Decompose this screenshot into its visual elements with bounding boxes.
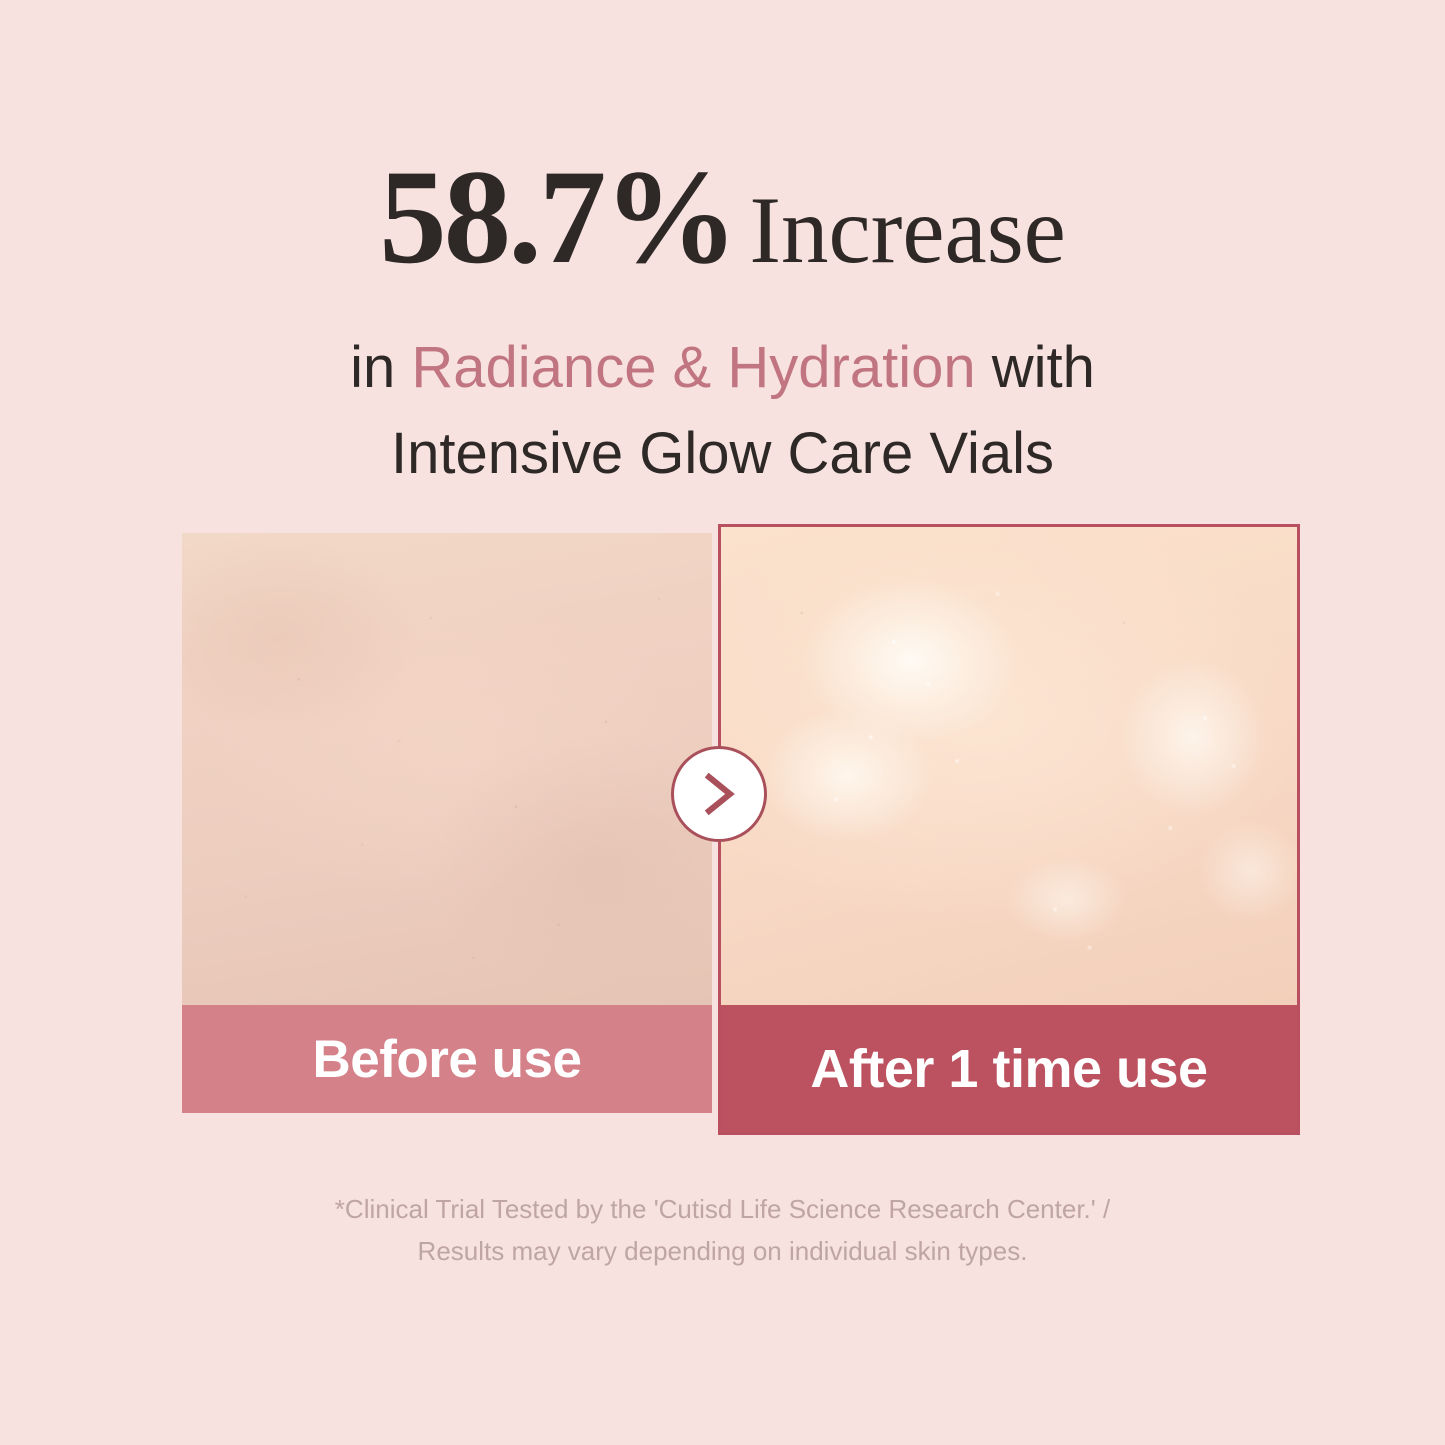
headline-subline-2: Intensive Glow Care Vials	[0, 413, 1445, 495]
footnote-line-1: *Clinical Trial Tested by the 'Cutisd Li…	[0, 1188, 1445, 1230]
before-caption-label: Before use	[313, 1029, 582, 1090]
subline-suffix: with	[976, 335, 1095, 400]
footnote-disclaimer: *Clinical Trial Tested by the 'Cutisd Li…	[0, 1188, 1445, 1272]
headline-stat-word: Increase	[749, 177, 1065, 283]
promo-page: 58.7%Increase in Radiance & Hydration wi…	[0, 0, 1445, 1445]
after-photo	[721, 527, 1297, 1005]
subline-prefix: in	[350, 335, 411, 400]
before-caption-bar: Before use	[182, 1005, 712, 1113]
before-photo	[182, 533, 712, 1005]
footnote-line-2: Results may vary depending on individual…	[0, 1230, 1445, 1272]
after-panel: After 1 time use	[718, 524, 1300, 1135]
subline-accent: Radiance & Hydration	[411, 335, 975, 400]
chevron-right-icon	[671, 746, 767, 842]
headline-stat-value: 58.7%	[379, 143, 735, 292]
headline-primary: 58.7%Increase	[0, 150, 1445, 285]
after-caption-label: After 1 time use	[810, 1038, 1207, 1100]
headline-subline-1: in Radiance & Hydration with	[0, 327, 1445, 409]
after-caption-bar: After 1 time use	[721, 1005, 1297, 1132]
skin-texture-before	[182, 533, 712, 1005]
before-panel: Before use	[182, 533, 712, 1113]
skin-texture-after	[721, 527, 1297, 1005]
headline-block: 58.7%Increase in Radiance & Hydration wi…	[0, 150, 1445, 496]
